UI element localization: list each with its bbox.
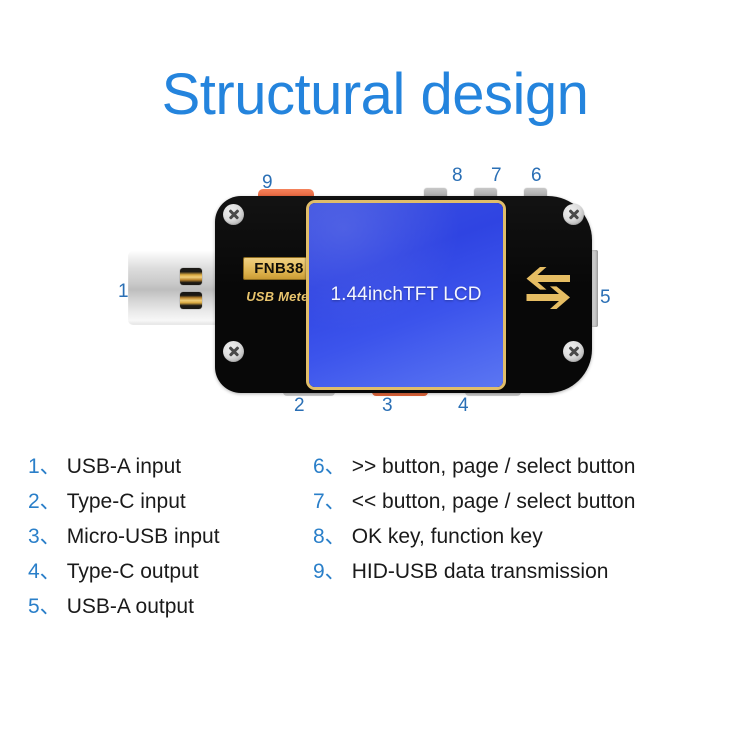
legend: 1、 USB-A input 2、 Type-C input 3、 Micro-… [0,450,750,645]
legend-item-number: 3、 [28,520,61,550]
legend-item-label: OK key, function key [352,525,543,549]
legend-column-left: 1、 USB-A input 2、 Type-C input 3、 Micro-… [28,450,318,625]
screw-icon-top-right [563,204,584,225]
legend-item-number: 1、 [28,450,61,480]
legend-item-label: Micro-USB input [67,525,220,549]
legend-item-label: HID-USB data transmission [352,560,609,584]
legend-item-label: USB-A output [67,595,194,619]
legend-item-label: Type-C output [67,560,199,584]
legend-item-label: << button, page / select button [352,490,636,514]
legend-item-number: 9、 [313,555,346,585]
usb-contact-pad-upper [180,268,202,285]
callout-6: 6 [531,165,542,187]
legend-item-number: 6、 [313,450,346,480]
lcd-screen-label: 1.44inchTFT LCD [330,284,481,306]
callout-7: 7 [491,165,502,187]
screw-icon-top-left [223,204,244,225]
legend-item-number: 8、 [313,520,346,550]
legend-item-number: 7、 [313,485,346,515]
callout-1: 1 [118,281,129,303]
callout-5: 5 [600,287,611,309]
callout-8: 8 [452,165,463,187]
lcd-bezel: 1.44inchTFT LCD [306,200,506,390]
legend-item: 2、 Type-C input [28,485,318,520]
page-title: Structural design [0,62,750,129]
legend-item-label: Type-C input [67,490,186,514]
legend-item: 6、 >> button, page / select button [313,450,743,485]
legend-item-label: >> button, page / select button [352,455,636,479]
lcd-screen: 1.44inchTFT LCD [309,203,503,387]
legend-item-number: 2、 [28,485,61,515]
legend-item: 3、 Micro-USB input [28,520,318,555]
callout-3: 3 [382,395,393,417]
callout-2: 2 [294,395,305,417]
legend-item-number: 4、 [28,555,61,585]
callout-9: 9 [262,172,273,194]
usb-a-input-connector [128,251,228,325]
legend-item: 7、 << button, page / select button [313,485,743,520]
screw-icon-bottom-right [563,341,584,362]
usb-contact-pad-lower [180,292,202,309]
legend-column-right: 6、 >> button, page / select button 7、 <<… [313,450,743,590]
bidirectional-data-transfer-icon [522,263,574,313]
legend-item-label: USB-A input [67,455,181,479]
legend-item: 1、 USB-A input [28,450,318,485]
legend-item: 9、 HID-USB data transmission [313,555,743,590]
legend-item: 5、 USB-A output [28,590,318,625]
screw-icon-bottom-left [223,341,244,362]
legend-item-number: 5、 [28,590,61,620]
legend-item: 8、 OK key, function key [313,520,743,555]
callout-4: 4 [458,395,469,417]
brand-model-label: FNB38 [243,257,315,280]
device-illustration: FNB38 USB Meter 1.44inchTFT LCD [110,165,610,410]
legend-item: 4、 Type-C output [28,555,318,590]
